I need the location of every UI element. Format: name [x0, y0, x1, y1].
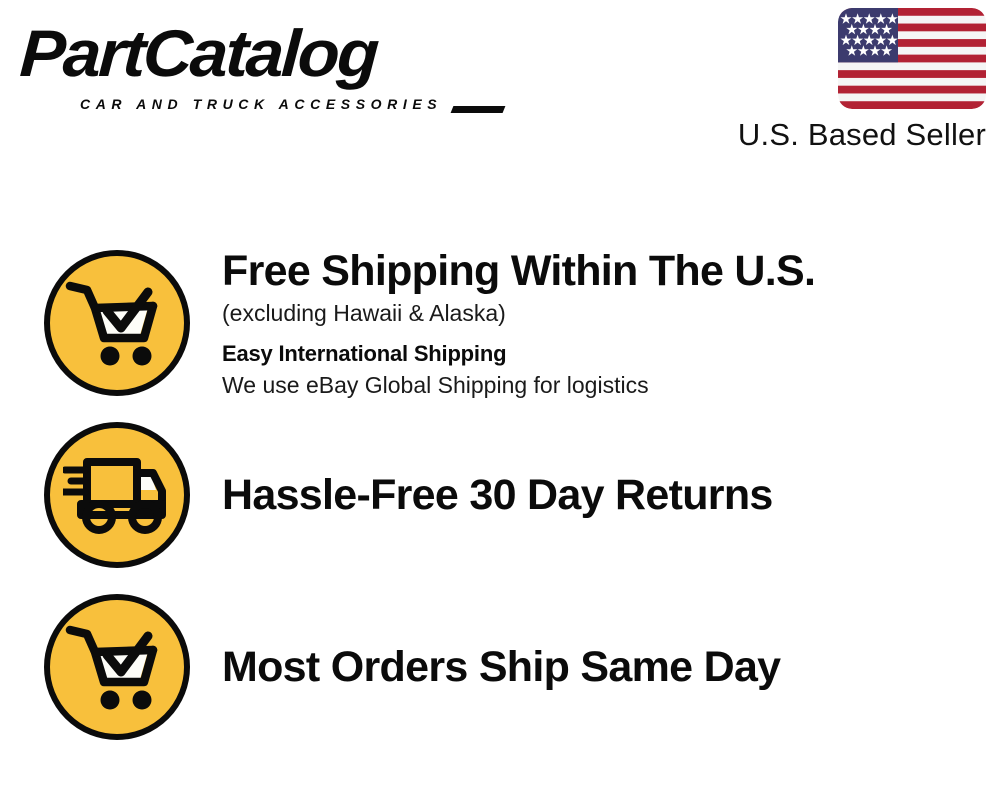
feature-row: Hassle-Free 30 Day Returns: [0, 419, 1000, 571]
delivery-truck-icon: [44, 422, 190, 568]
shopping-cart-check-icon: [44, 250, 190, 396]
feature-title: Hassle-Free 30 Day Returns: [222, 470, 980, 520]
feature-text-block: Hassle-Free 30 Day Returns: [222, 470, 1000, 520]
feature-sub-bold: Easy International Shipping: [222, 339, 980, 369]
feature-row: Free Shipping Within The U.S. (excluding…: [0, 247, 1000, 399]
partcatalog-logo: PartCatalog CAR AND TRUCK ACCESSORIES: [22, 18, 492, 118]
feature-text-block: Free Shipping Within The U.S. (excluding…: [222, 246, 1000, 401]
feature-text-block: Most Orders Ship Same Day: [222, 642, 1000, 692]
feature-title: Most Orders Ship Same Day: [222, 642, 980, 692]
us-based-seller-label: U.S. Based Seller: [716, 116, 986, 154]
logo-tagline: CAR AND TRUCK ACCESSORIES: [80, 96, 442, 112]
feature-title: Free Shipping Within The U.S.: [222, 246, 980, 296]
feature-row: Most Orders Ship Same Day: [0, 591, 1000, 743]
shopping-cart-check-icon: [44, 594, 190, 740]
feature-subtitle: (excluding Hawaii & Alaska): [222, 296, 980, 330]
feature-sub-note: We use eBay Global Shipping for logistic…: [222, 369, 980, 401]
banner-header: PartCatalog CAR AND TRUCK ACCESSORIES: [0, 0, 1000, 170]
shipping-info-banner: PartCatalog CAR AND TRUCK ACCESSORIES: [0, 0, 1000, 800]
us-flag-icon: [838, 8, 986, 109]
us-based-seller-block: U.S. Based Seller: [716, 8, 986, 154]
logo-wordmark: PartCatalog: [18, 18, 511, 88]
logo-underline-accent: [451, 106, 506, 113]
